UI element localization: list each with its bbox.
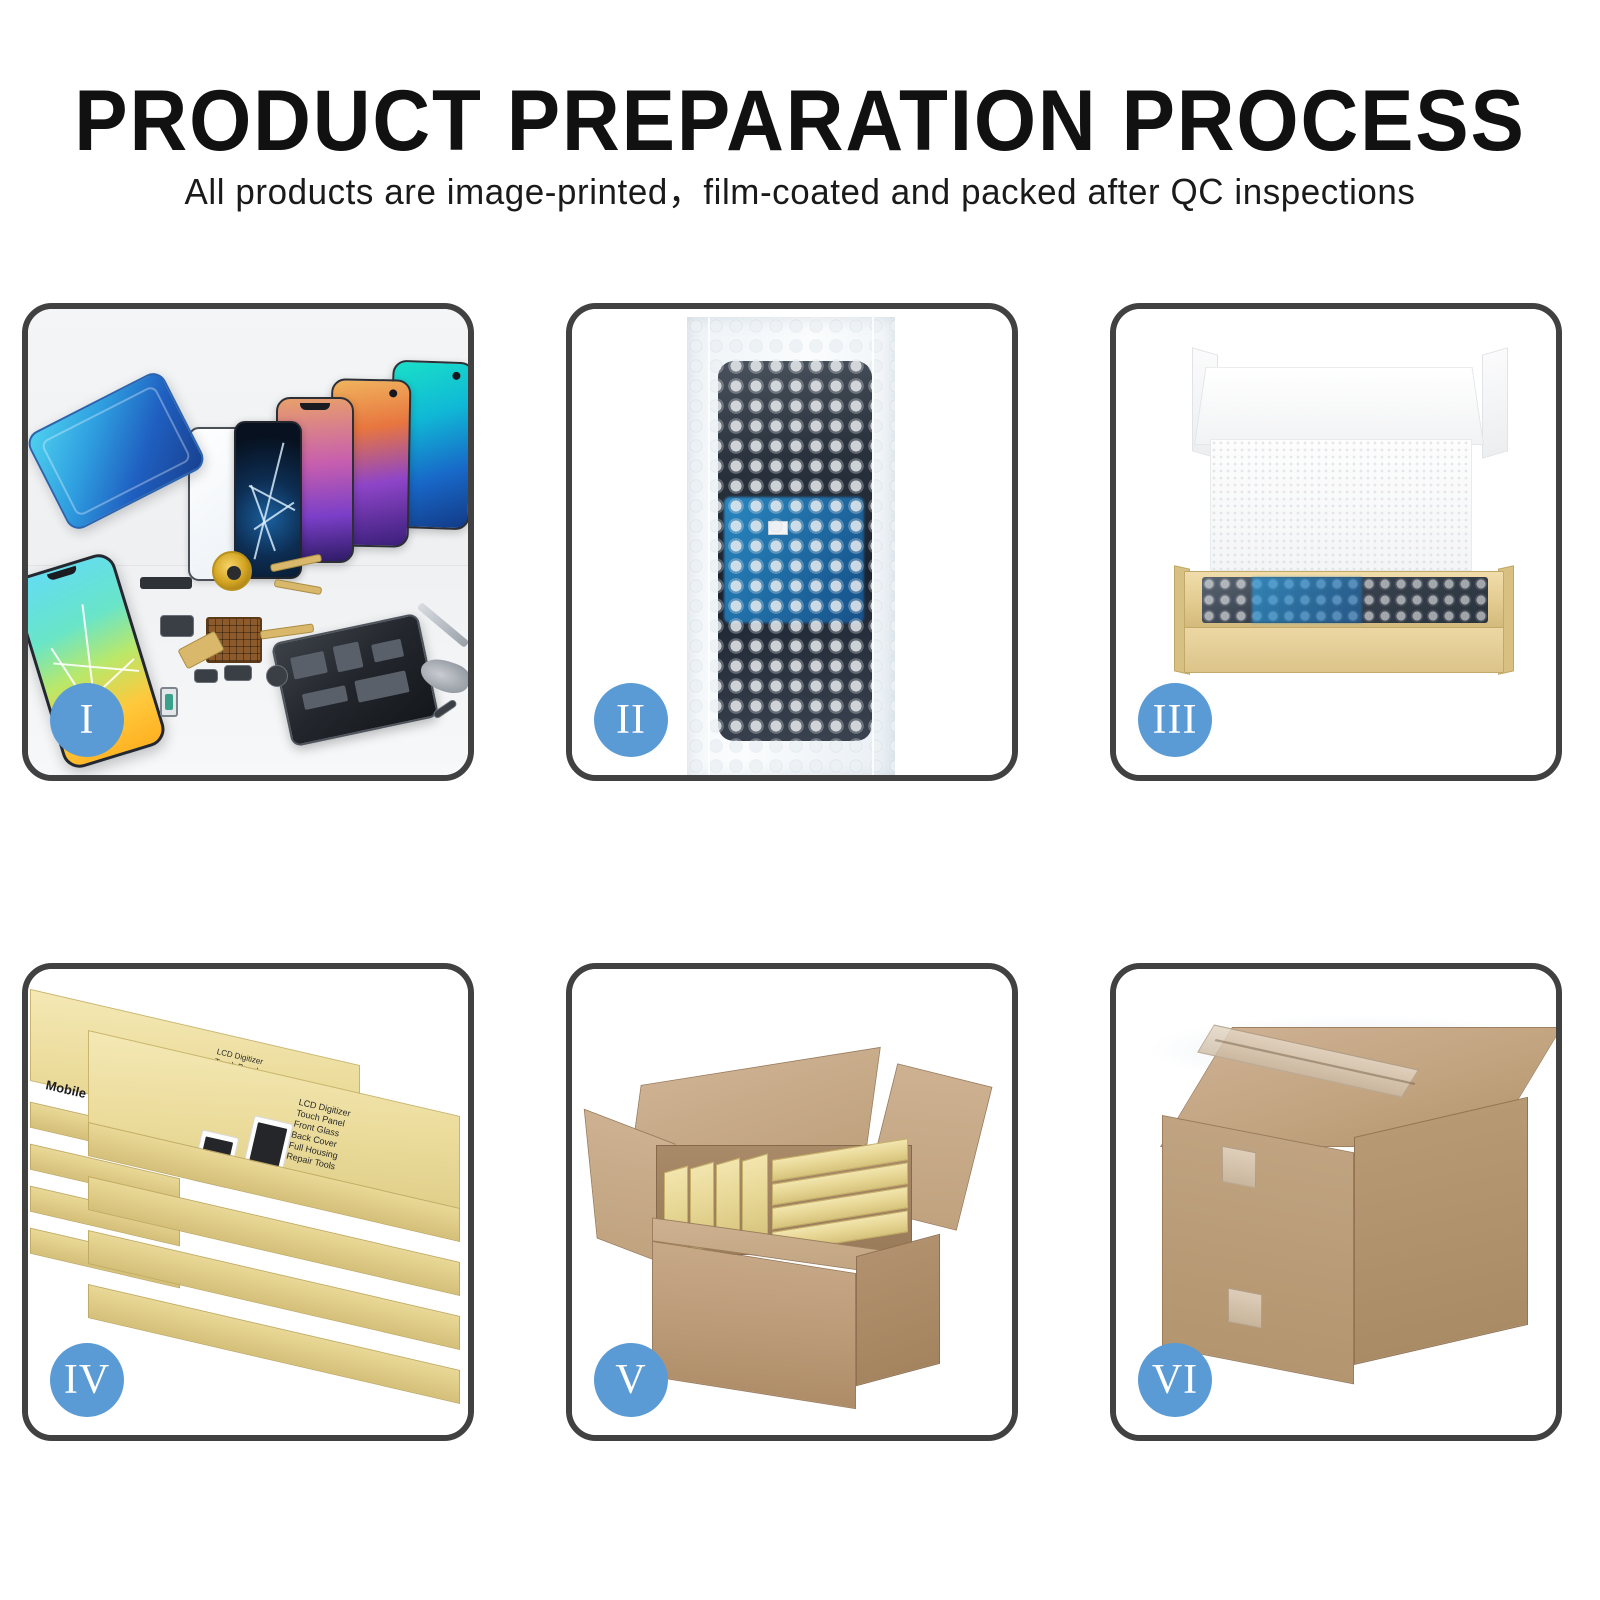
sleeve-seam-right <box>872 317 874 775</box>
boxed-item-blue-sheen <box>1252 577 1362 623</box>
bubble-wrap-shading <box>687 317 895 775</box>
step-card-1[interactable]: I <box>22 303 474 781</box>
step-card-4[interactable]: Mobile Phone Spare Parts LCD Digitizer T… <box>22 963 474 1441</box>
step-card-3[interactable]: III <box>1110 303 1562 781</box>
camera-module-icon <box>160 615 194 637</box>
vibrator-icon <box>266 665 288 687</box>
step-badge-1: I <box>50 683 124 757</box>
step-badge-4: IV <box>50 1343 124 1417</box>
step-badge-5: V <box>594 1343 668 1417</box>
speaker-module-icon <box>140 577 192 589</box>
step-badge-3: III <box>1138 683 1212 757</box>
carton-right-face <box>856 1234 940 1387</box>
step-card-6[interactable]: VI <box>1110 963 1562 1441</box>
mailer-tray-front <box>1184 627 1504 673</box>
sleeve-seam-left <box>708 317 710 775</box>
step-badge-6: VI <box>1138 1343 1212 1417</box>
sealed-carton-left-face <box>1162 1115 1354 1384</box>
sim-tray-icon <box>160 687 178 717</box>
steps-grid: I II <box>0 0 1600 1600</box>
charging-port-icon <box>194 669 218 683</box>
product-preparation-infographic: PRODUCT PREPARATION PROCESS All products… <box>0 0 1600 1600</box>
foam-liner <box>1210 439 1472 571</box>
carton-corner-tape-upper <box>1222 1146 1256 1189</box>
mailer-lid-right-flap <box>1482 347 1508 458</box>
step-badge-2: II <box>594 683 668 757</box>
step-card-2[interactable]: II <box>566 303 1018 781</box>
sealed-carton-right-face <box>1354 1097 1528 1365</box>
battery-connector-icon <box>224 665 252 681</box>
mailer-lid <box>1194 367 1484 445</box>
carton-corner-tape-lower <box>1228 1288 1262 1329</box>
step-card-5[interactable]: V <box>566 963 1018 1441</box>
wireless-coil-icon <box>212 551 252 591</box>
